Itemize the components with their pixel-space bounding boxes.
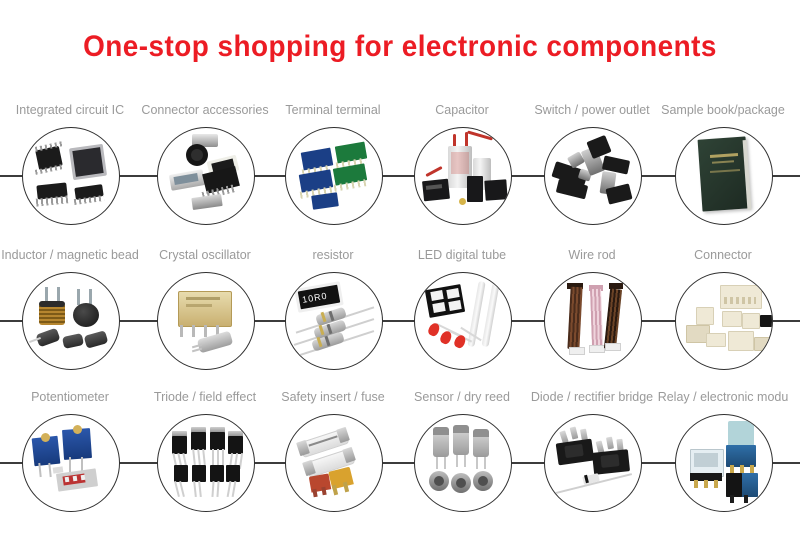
category-thumbnail (22, 414, 120, 512)
category-thumbnail (157, 414, 255, 512)
relay-electronic-module-icon (676, 415, 772, 511)
sample-book-icon (676, 128, 772, 224)
category-item-capacitor[interactable]: Capacitor (392, 103, 532, 248)
category-label: Relay / electronic modu (635, 390, 800, 404)
category-item-potentiometer[interactable]: Potentiometer (0, 390, 140, 535)
category-thumbnail (675, 414, 773, 512)
category-thumbnail (414, 272, 512, 370)
inductor-magnetic-bead-icon (23, 273, 119, 369)
led-digital-tube-icon (415, 273, 511, 369)
category-item-integrated-circuit-ic[interactable]: Integrated circuit IC (0, 103, 140, 248)
category-thumbnail (157, 127, 255, 225)
category-thumbnail (414, 414, 512, 512)
category-thumbnail (157, 272, 255, 370)
ic-chips-icon (23, 128, 119, 224)
crystal-oscillator-icon (158, 273, 254, 369)
category-item-triode-field-effect[interactable]: Triode / field effect (135, 390, 275, 535)
connector-accessories-icon (158, 128, 254, 224)
wire-rod-icon (545, 273, 641, 369)
category-item-connector[interactable]: Connector (653, 248, 793, 393)
switch-power-outlet-icon (545, 128, 641, 224)
category-item-led-digital-tube[interactable]: LED digital tube (392, 248, 532, 393)
category-thumbnail (675, 127, 773, 225)
category-item-connector-accessories[interactable]: Connector accessories (135, 103, 275, 248)
sensor-dry-reed-icon (415, 415, 511, 511)
potentiometer-icon (23, 415, 119, 511)
category-item-crystal-oscillator[interactable]: Crystal oscillator (135, 248, 275, 393)
diode-rectifier-bridge-icon (545, 415, 641, 511)
capacitor-icon (415, 128, 511, 224)
category-item-sample-book-package[interactable]: Sample book/package (653, 103, 793, 248)
category-item-relay-electronic-module[interactable]: Relay / electronic modu (653, 390, 793, 535)
category-item-sensor-dry-reed[interactable]: Sensor / dry reed (392, 390, 532, 535)
category-thumbnail (22, 272, 120, 370)
category-thumbnail (544, 127, 642, 225)
category-thumbnail (22, 127, 120, 225)
triode-field-effect-icon (158, 415, 254, 511)
category-item-terminal-terminal[interactable]: Terminal terminal (263, 103, 403, 248)
terminal-block-icon (286, 128, 382, 224)
category-item-inductor-magnetic-bead[interactable]: Inductor / magnetic bead (0, 248, 140, 393)
category-label: Sample book/package (635, 103, 800, 117)
category-item-diode-rectifier-bridge[interactable]: Diode / rectifier bridge (522, 390, 662, 535)
category-label: Connector (635, 248, 800, 262)
category-thumbnail (414, 127, 512, 225)
category-thumbnail: 10R0 (285, 272, 383, 370)
category-row-2: Inductor / magnetic bead (0, 248, 800, 393)
category-thumbnail (544, 414, 642, 512)
category-item-resistor[interactable]: resistor 10R0 (263, 248, 403, 393)
promo-banner: One-stop shopping for electronic compone… (0, 0, 800, 528)
category-thumbnail (675, 272, 773, 370)
category-item-safety-insert-fuse[interactable]: Safety insert / fuse (263, 390, 403, 535)
category-item-wire-rod[interactable]: Wire rod (522, 248, 662, 393)
category-row-1: Integrated circuit IC Connector accessor… (0, 103, 800, 248)
resistor-icon: 10R0 (286, 273, 382, 369)
safety-fuse-icon (286, 415, 382, 511)
category-thumbnail (544, 272, 642, 370)
category-thumbnail (285, 127, 383, 225)
page-title: One-stop shopping for electronic compone… (28, 30, 772, 64)
connector-icon (676, 273, 772, 369)
category-row-3: Potentiometer (0, 390, 800, 535)
category-item-switch-power-outlet[interactable]: Switch / power outlet (522, 103, 662, 248)
category-thumbnail (285, 414, 383, 512)
